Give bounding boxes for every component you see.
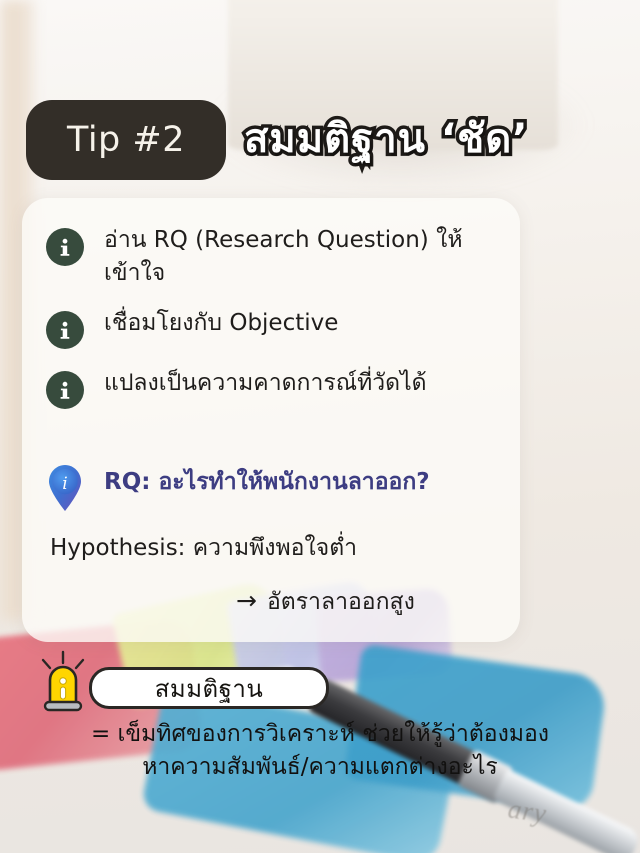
footer-definition: = เข็มทิศของการวิเคราะห์ ช่วยให้รู้ว่าต้… xyxy=(0,718,640,785)
svg-text:i: i xyxy=(62,474,67,494)
content-card: อ่าน RQ (Research Question) ให้เข้าใจ เช… xyxy=(22,198,520,642)
tip-badge: Tip #2 xyxy=(26,100,226,180)
handwriting-watermark: ary xyxy=(506,793,549,829)
bullet-list: อ่าน RQ (Research Question) ให้เข้าใจ เช… xyxy=(46,224,501,427)
conclusion-row: →อัตราลาออกสูง xyxy=(236,584,506,620)
info-circle-icon xyxy=(46,228,84,266)
list-item: อ่าน RQ (Research Question) ให้เข้าใจ xyxy=(46,224,501,289)
poster-canvas: Tip #2 สมมติฐาน ‘ชัด’ อ่าน RQ (Research … xyxy=(0,0,640,853)
list-item-label: แปลงเป็นความคาดการณ์ที่วัดได้ xyxy=(104,367,427,400)
list-item: เชื่อมโยงกับ Objective xyxy=(46,307,501,349)
list-item-label: เชื่อมโยงกับ Objective xyxy=(104,307,338,340)
keyword-badge-label: สมมติฐาน xyxy=(155,669,264,708)
conclusion-label: อัตราลาออกสูง xyxy=(267,589,415,615)
example-block: i RQ: อะไรทำให้พนักงานลาออก? Hypothesis:… xyxy=(46,464,506,620)
info-circle-icon xyxy=(46,311,84,349)
map-pin-info-icon: i xyxy=(46,464,84,512)
header: Tip #2 สมมติฐาน ‘ชัด’ xyxy=(0,98,640,188)
footer-line-1: = เข็มทิศของการวิเคราะห์ ช่วยให้รู้ว่าต้… xyxy=(0,718,640,751)
arrow-right-icon: → xyxy=(236,586,257,615)
research-question-row: i RQ: อะไรทำให้พนักงานลาออก? xyxy=(46,464,506,512)
info-circle-icon xyxy=(46,371,84,409)
footer-line-2: หาความสัมพันธ์/ความแตกต่างอะไร xyxy=(0,751,640,784)
keyword-badge: สมมติฐาน xyxy=(89,667,329,709)
hypothesis-label: Hypothesis: ความพึงพอใจต่ำ xyxy=(50,530,506,566)
research-question-label: RQ: อะไรทำให้พนักงานลาออก? xyxy=(104,468,430,498)
tip-badge-label: Tip #2 xyxy=(67,120,185,160)
list-item: แปลงเป็นความคาดการณ์ที่วัดได้ xyxy=(46,367,501,409)
keyword-badge-row: สมมติฐาน xyxy=(34,650,334,712)
page-title: สมมติฐาน ‘ชัด’ xyxy=(244,106,528,170)
list-item-label: อ่าน RQ (Research Question) ให้เข้าใจ xyxy=(104,224,501,289)
